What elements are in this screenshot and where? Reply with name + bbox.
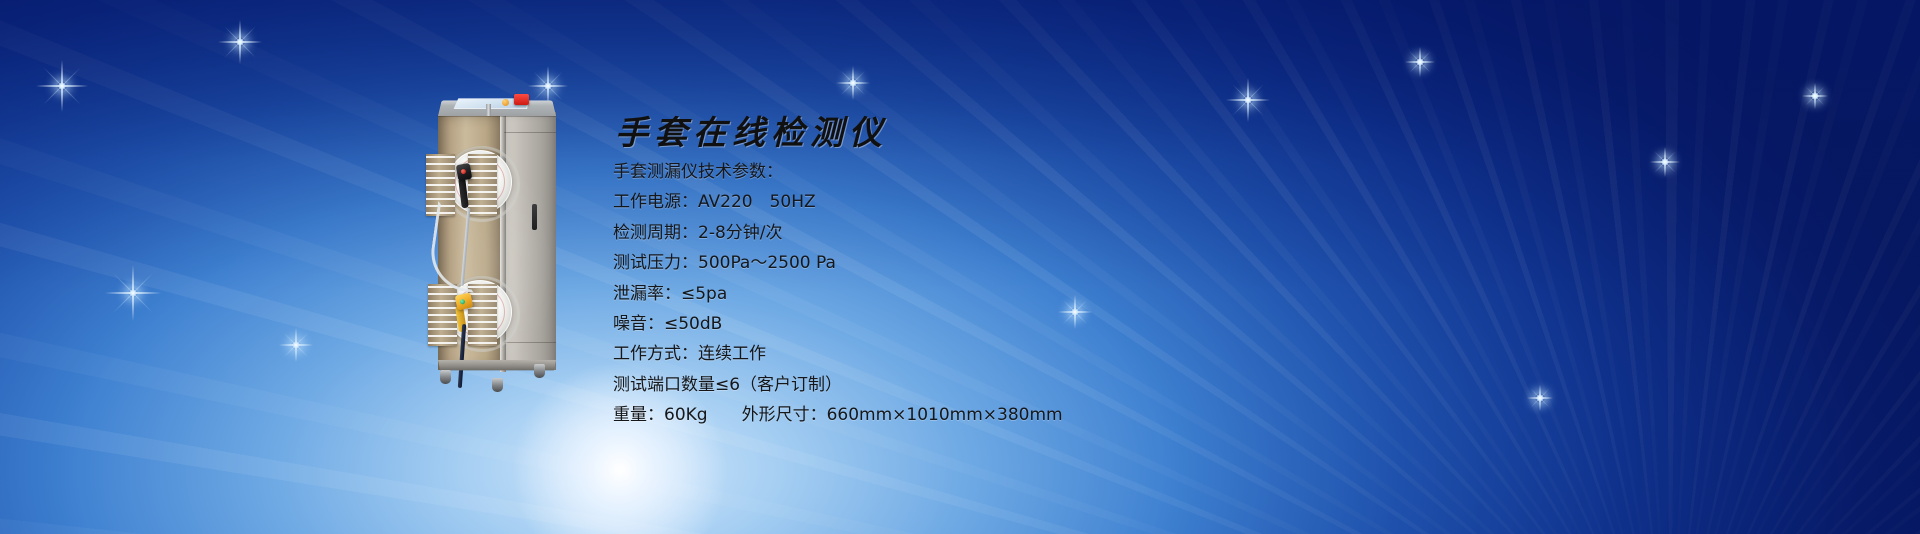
glove-leak-tester-machine: 1 2 [430,92,560,392]
spec-line: 工作电源：AV220 50HZ [613,194,1373,211]
machine-panel-seam [504,132,556,133]
spec-line: 重量：60Kg 外形尺寸：660mm×1010mm×380mm [613,407,1373,424]
machine-caster-wheel [440,370,451,384]
spec-line: 工作方式：连续工作 [613,346,1373,363]
spec-line-list: 工作电源：AV220 50HZ检测周期：2-8分钟/次测试压力：500Pa～25… [613,194,1373,424]
machine-emergency-stop-button [514,94,529,105]
machine-top-knob [486,104,491,116]
spec-line: 泄漏率：≤5pa [613,286,1373,303]
spec-line: 测试压力：500Pa～2500 Pa [613,255,1373,272]
product-banner: 1 2 手套在线检测仪 手 [0,0,1920,534]
machine-caster-wheel [492,378,503,392]
black-test-handle [456,163,473,181]
machine-louver-vent [468,284,497,346]
green-indicator-led [460,299,466,305]
spec-line: 噪音：≤50dB [613,316,1373,333]
machine-louver-vent [428,284,457,346]
red-indicator-led [461,169,467,175]
spec-line: 检测周期：2-8分钟/次 [613,225,1373,242]
machine-amber-indicator [502,99,509,106]
machine-panel-seam [504,342,556,343]
product-title: 手套在线检测仪 [615,118,1373,151]
spec-line: 测试端口数量≤6（客户订制） [613,377,1373,394]
spec-heading: 手套测漏仪技术参数： [613,164,1373,181]
specification-text-block: 手套在线检测仪 手套测漏仪技术参数： 工作电源：AV220 50HZ检测周期：2… [613,118,1373,438]
machine-caster-wheel [534,364,545,378]
machine-door-handle [532,204,537,230]
